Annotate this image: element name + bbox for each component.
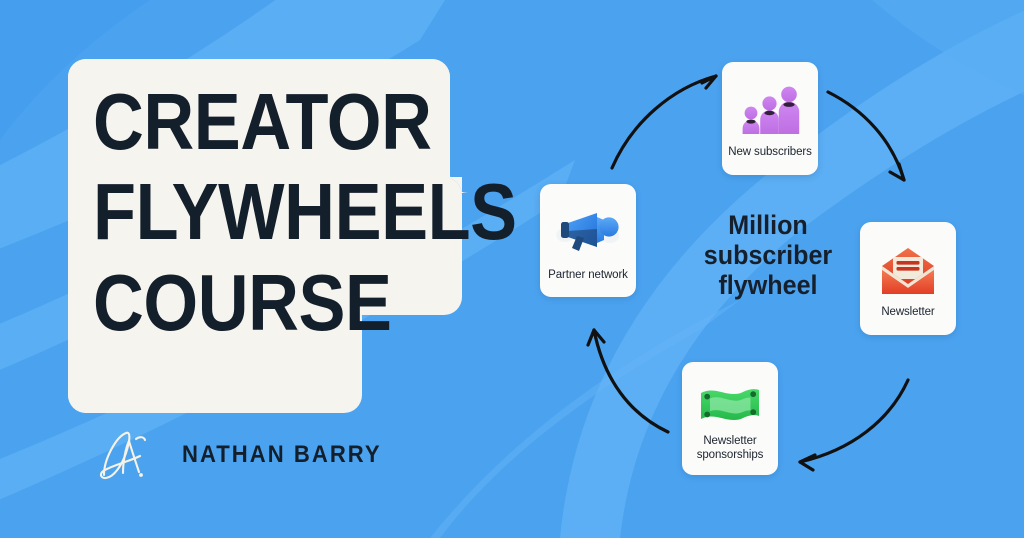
signature-monogram-icon <box>96 425 156 485</box>
flywheel-diagram: Million subscriber flywheel <box>512 0 1024 538</box>
flywheel-node-label: New subscribers <box>728 146 812 160</box>
flywheel-node-label: Newsletter <box>881 306 934 320</box>
title-line-3: COURSE <box>93 264 410 342</box>
banknote-icon <box>699 385 761 425</box>
arrow-partner-to-subscribers <box>612 76 716 168</box>
open-envelope-icon <box>880 246 936 296</box>
flywheel-node-label: Newsletter sponsorships <box>697 435 764 462</box>
people-group-icon <box>738 86 802 134</box>
flywheel-node-newsletter[interactable]: Newsletter <box>860 222 956 335</box>
center-label-line-1: Million <box>694 210 843 240</box>
flywheel-node-label: Partner network <box>548 269 628 283</box>
flywheel-node-new-subscribers[interactable]: New subscribers <box>722 62 818 175</box>
flywheel-node-newsletter-sponsorships[interactable]: Newsletter sponsorships <box>682 362 778 475</box>
title-line-2: FLYWHEELS <box>93 173 410 251</box>
byline-name: NATHAN BARRY <box>182 441 382 469</box>
title-text: CREATOR FLYWHEELS COURSE <box>93 83 453 342</box>
flywheel-center-label: Million subscriber flywheel <box>694 210 843 301</box>
byline: NATHAN BARRY <box>96 424 399 486</box>
center-label-line-3: flywheel <box>694 270 843 300</box>
megaphone-icon <box>555 207 621 257</box>
center-label-line-2: subscriber <box>694 240 843 270</box>
title-card: CREATOR FLYWHEELS COURSE <box>68 59 468 413</box>
promo-banner: CREATOR FLYWHEELS COURSE NATHAN BARRY <box>0 0 1024 538</box>
flywheel-node-partner-network[interactable]: Partner network <box>540 184 636 297</box>
title-line-1: CREATOR <box>93 83 410 161</box>
